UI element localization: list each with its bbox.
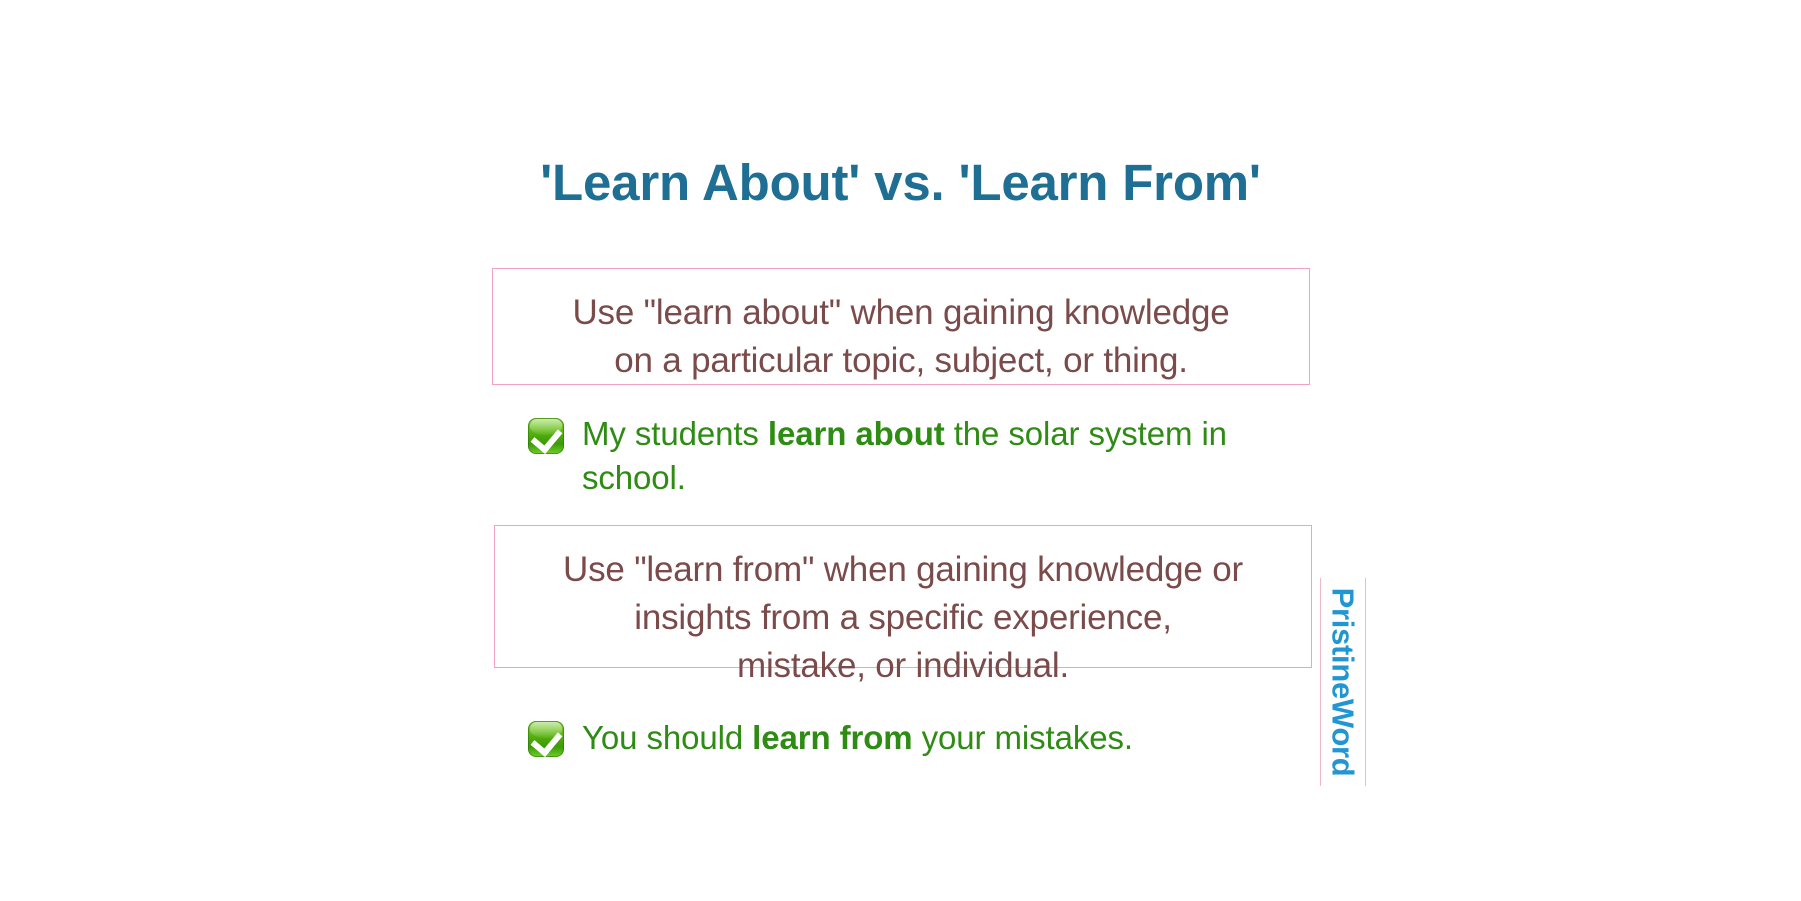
definition-line: on a particular topic, subject, or thing…: [493, 337, 1309, 385]
example-text-highlight: learn about: [768, 415, 945, 452]
page-title: 'Learn About' vs. 'Learn From': [0, 152, 1801, 214]
example-text-before: My students: [582, 415, 768, 452]
definition-line: mistake, or individual.: [495, 642, 1311, 690]
watermark-label: PristineWord: [1328, 588, 1359, 777]
definition-line: Use "learn from" when gaining knowledge …: [495, 546, 1311, 594]
definition-box-learn-about: Use "learn about" when gaining knowledge…: [492, 268, 1310, 385]
example-text: My students learn about the solar system…: [582, 412, 1288, 500]
check-mark-button-icon: [528, 721, 564, 757]
definition-box-learn-from: Use "learn from" when gaining knowledge …: [494, 525, 1312, 668]
example-learn-from: You should learn from your mistakes.: [528, 716, 1288, 760]
check-mark-button-icon: [528, 418, 564, 454]
slide-canvas: 'Learn About' vs. 'Learn From' Use "lear…: [0, 0, 1801, 901]
definition-line: Use "learn about" when gaining knowledge: [493, 289, 1309, 337]
example-learn-about: My students learn about the solar system…: [528, 412, 1288, 500]
definition-line: insights from a specific experience,: [495, 594, 1311, 642]
example-text: You should learn from your mistakes.: [582, 716, 1133, 760]
watermark-brand: PristineWord: [1320, 578, 1366, 786]
example-text-highlight: learn from: [752, 719, 912, 756]
example-text-before: You should: [582, 719, 752, 756]
example-text-after: your mistakes.: [913, 719, 1133, 756]
